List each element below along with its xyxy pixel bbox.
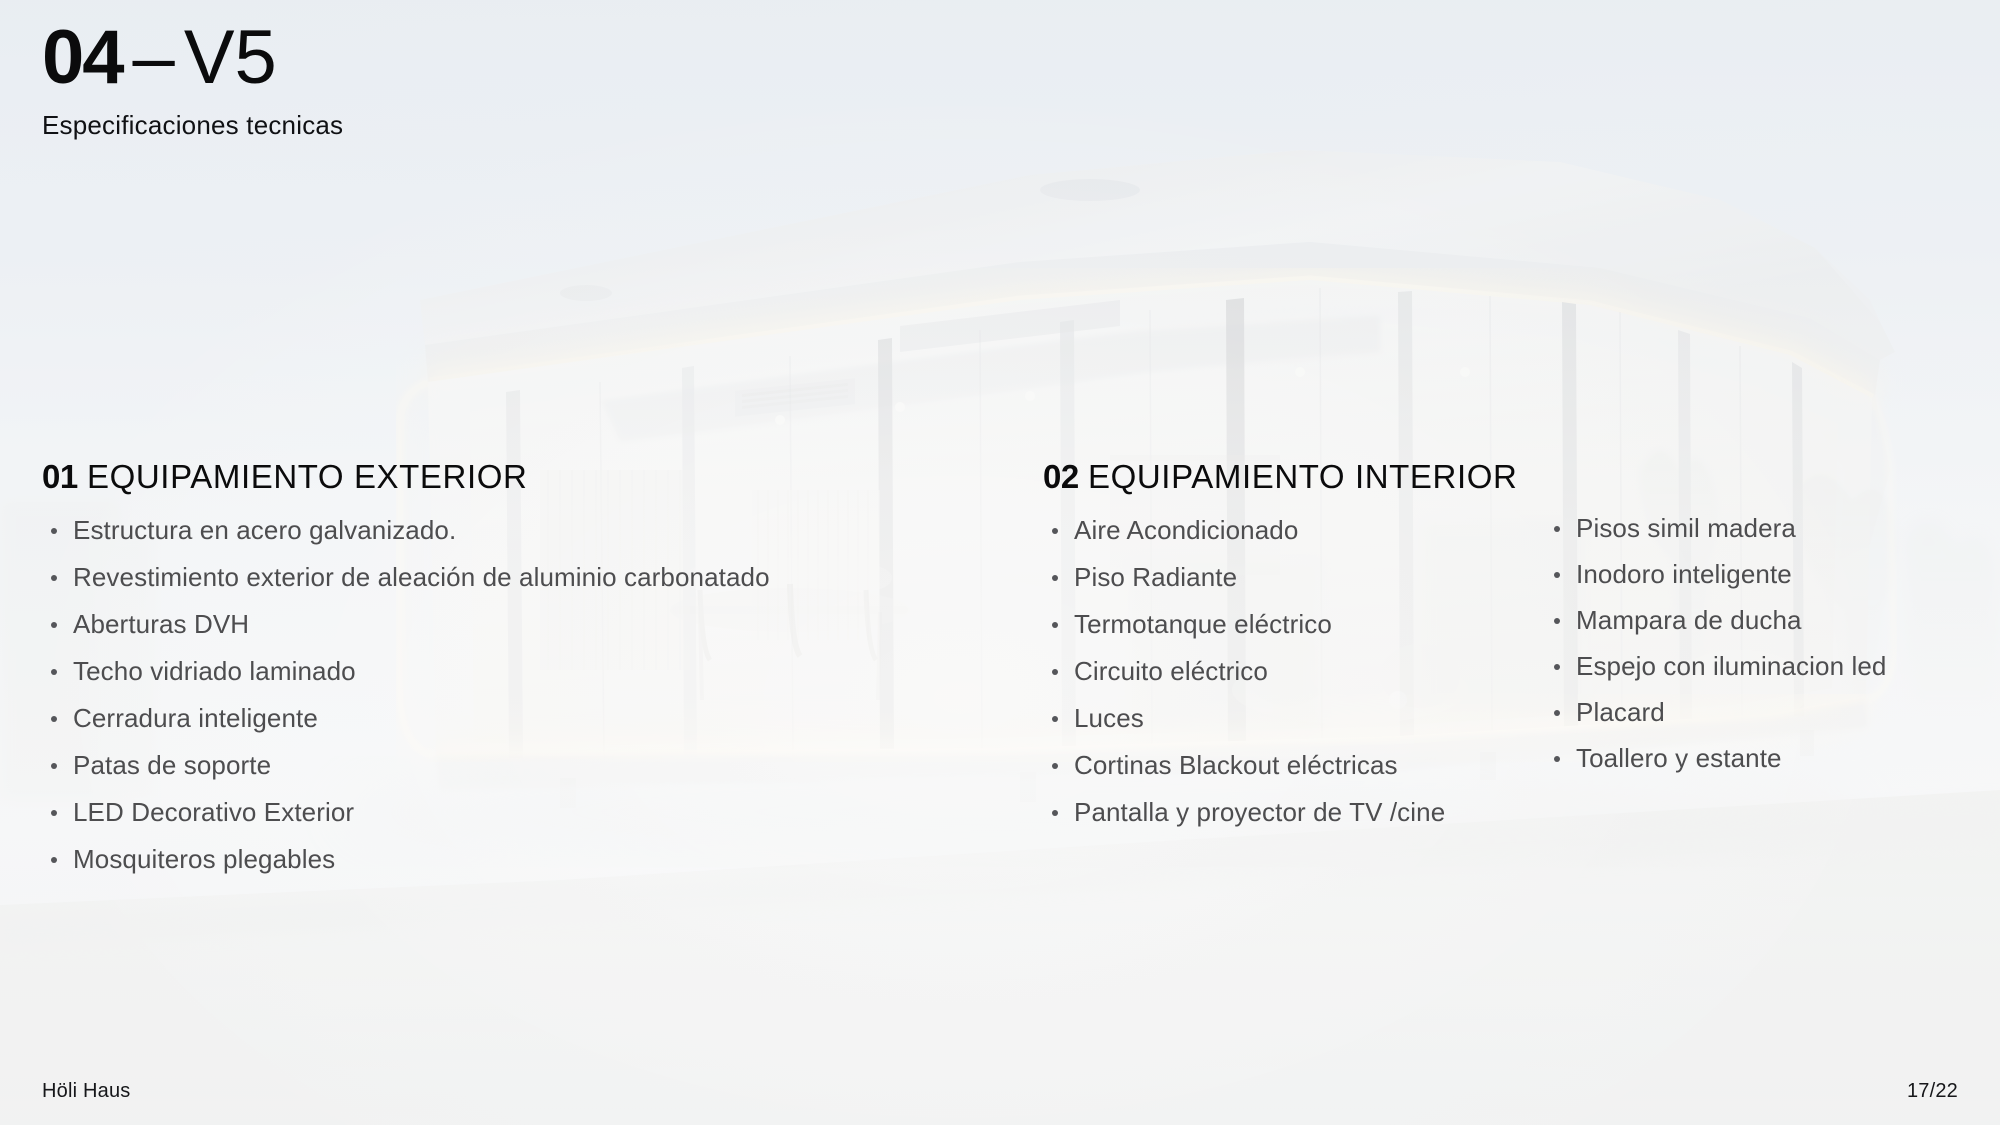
section-equipamiento-interior: 02 EQUIPAMIENTO INTERIOR Aire Acondicion… [1043, 460, 1563, 846]
list-item: Placard [1545, 699, 1985, 725]
list-item: Techo vidriado laminado [42, 658, 942, 684]
list-item: Mosquiteros plegables [42, 846, 942, 872]
page-title-number: 04 [42, 15, 123, 100]
interior-spec-list: Aire Acondicionado Piso Radiante Termota… [1043, 517, 1563, 825]
list-item: Aberturas DVH [42, 611, 942, 637]
list-item: Pisos simil madera [1545, 515, 1985, 541]
list-item: Luces [1043, 705, 1563, 731]
list-item: Pantalla y proyector de TV /cine [1043, 799, 1563, 825]
page-subtitle: Especificaciones tecnicas [42, 110, 343, 141]
list-item: Circuito eléctrico [1043, 658, 1563, 684]
section-equipamiento-interior-secondary: Pisos simil madera Inodoro inteligente M… [1545, 515, 1985, 791]
page-title: 04–V5 [42, 22, 343, 94]
slide-content: 01 EQUIPAMIENTO EXTERIOR Estructura en a… [0, 0, 2000, 1125]
footer-page-number: 17/22 [1907, 1080, 1958, 1103]
footer-brand: Höli Haus [42, 1080, 131, 1103]
section-heading-interior: 02 EQUIPAMIENTO INTERIOR [1043, 460, 1563, 493]
list-item: Termotanque eléctrico [1043, 611, 1563, 637]
page-title-version: V5 [184, 15, 277, 100]
list-item: Inodoro inteligente [1545, 561, 1985, 587]
slide-root: 04–V5 Especificaciones tecnicas 01 EQUIP… [0, 0, 2000, 1125]
slide-footer: Höli Haus 17/22 [0, 1065, 2000, 1125]
list-item: Patas de soporte [42, 752, 942, 778]
list-item: Cerradura inteligente [42, 705, 942, 731]
section-label-interior: EQUIPAMIENTO INTERIOR [1088, 458, 1517, 495]
section-number-02: 02 [1043, 458, 1079, 495]
list-item: Revestimiento exterior de aleación de al… [42, 564, 942, 590]
list-item: Toallero y estante [1545, 745, 1985, 771]
list-item: Aire Acondicionado [1043, 517, 1563, 543]
section-label-exterior: EQUIPAMIENTO EXTERIOR [87, 458, 527, 495]
section-number-01: 01 [42, 458, 78, 495]
list-item: Piso Radiante [1043, 564, 1563, 590]
exterior-spec-list: Estructura en acero galvanizado. Revesti… [42, 517, 942, 872]
list-item: Espejo con iluminacion led [1545, 653, 1985, 679]
section-equipamiento-exterior: 01 EQUIPAMIENTO EXTERIOR Estructura en a… [42, 460, 942, 893]
list-item: Cortinas Blackout eléctricas [1043, 752, 1563, 778]
section-heading-exterior: 01 EQUIPAMIENTO EXTERIOR [42, 460, 942, 493]
list-item: Mampara de ducha [1545, 607, 1985, 633]
page-title-dash: – [123, 15, 184, 100]
list-item: Estructura en acero galvanizado. [42, 517, 942, 543]
list-item: LED Decorativo Exterior [42, 799, 942, 825]
slide-header: 04–V5 Especificaciones tecnicas [42, 22, 343, 141]
interior-spec-list-secondary: Pisos simil madera Inodoro inteligente M… [1545, 515, 1985, 771]
